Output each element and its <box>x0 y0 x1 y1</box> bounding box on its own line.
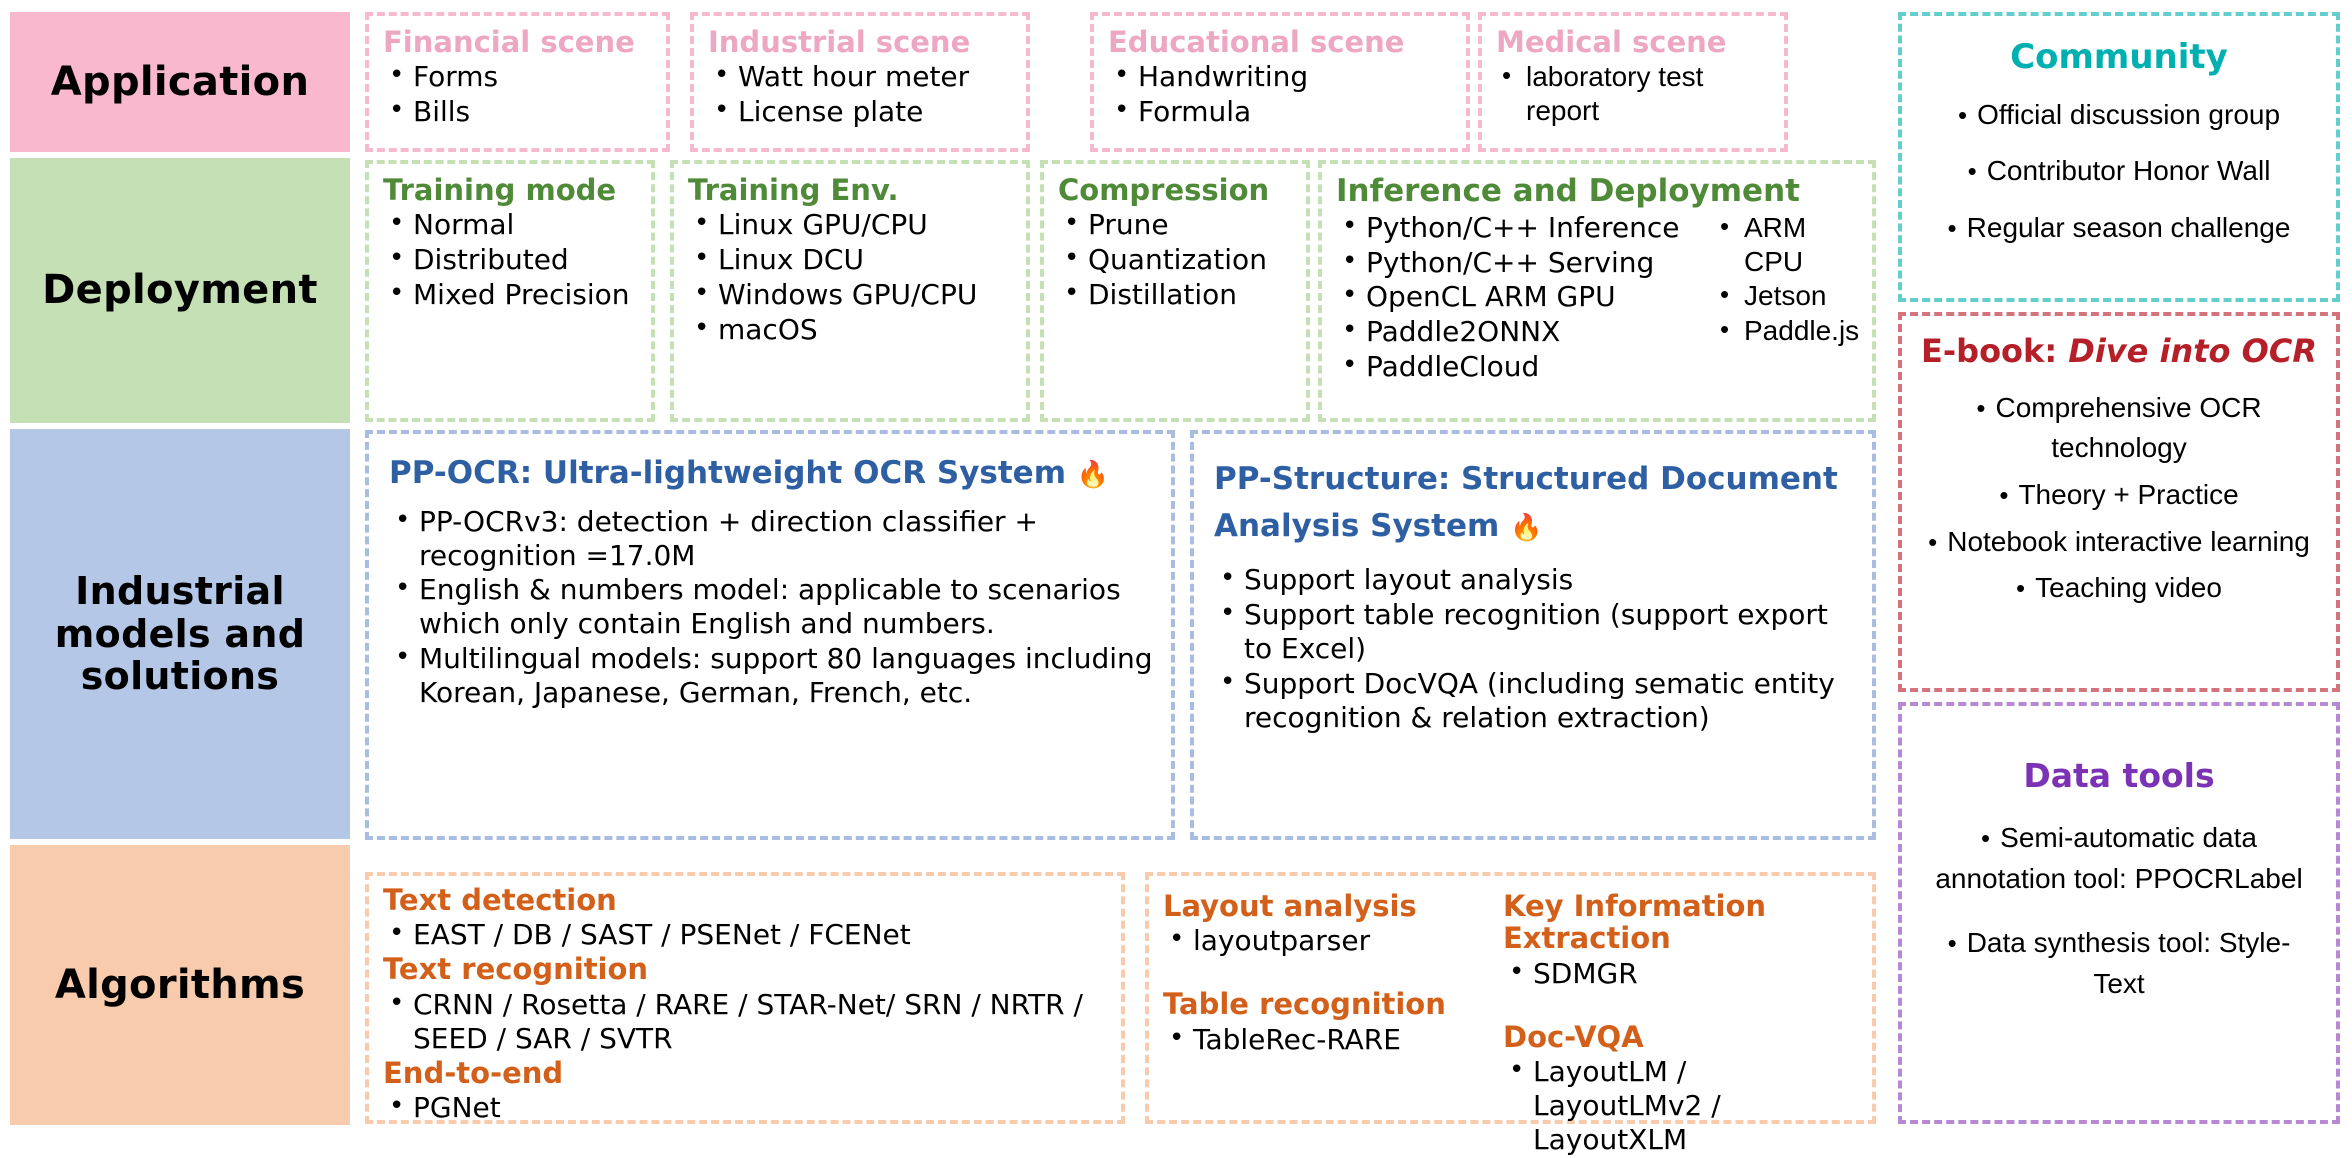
list-item: Support DocVQA (including sematic entity… <box>1214 667 1856 735</box>
list-item: Formula <box>1108 95 1454 129</box>
list-item: LayoutLM / LayoutLMv2 / LayoutXLM <box>1503 1055 1833 1157</box>
card-industrial-scene-list: Watt hour meter License plate <box>708 60 1014 129</box>
group-title-key-information-extraction: Key Information Extraction <box>1503 890 1860 955</box>
list-item: Semi-automatic data annotation tool: PPO… <box>1928 817 2310 900</box>
card-inference-list-left: Python/C++ Inference Python/C++ Serving … <box>1336 211 1696 384</box>
card-inference-and-deployment: Inference and Deployment Python/C++ Infe… <box>1318 160 1876 422</box>
list-item: SDMGR <box>1503 957 1860 991</box>
list-item: Distillation <box>1058 278 1294 312</box>
card-inference-list-right: ARM CPU Jetson Paddle.js <box>1714 211 1860 349</box>
list-item: Python/C++ Serving <box>1336 246 1696 280</box>
inference-columns: Python/C++ Inference Python/C++ Serving … <box>1336 211 1860 385</box>
card-compression-list: Prune Quantization Distillation <box>1058 208 1294 312</box>
card-industrial-scene-title: Industrial scene <box>708 26 1014 58</box>
card-pp-structure: PP-Structure: Structured Document Analys… <box>1190 430 1876 840</box>
card-training-mode-title: Training mode <box>383 174 639 206</box>
list-item: Handwriting <box>1108 60 1454 94</box>
row-label-algorithms-text: Algorithms <box>55 963 305 1008</box>
card-training-env-list: Linux GPU/CPU Linux DCU Windows GPU/CPU … <box>688 208 1014 347</box>
card-ebook-title-prefix: E-book: <box>1921 332 2068 370</box>
list-item: Distributed <box>383 243 639 277</box>
card-medical-scene-title: Medical scene <box>1496 26 1772 58</box>
list-item: Multilingual models: support 80 language… <box>389 642 1153 710</box>
list-item: Linux GPU/CPU <box>688 208 1014 242</box>
card-educational-scene: Educational scene Handwriting Formula <box>1090 12 1470 152</box>
card-pp-ocr-title-text: PP-OCR: Ultra-lightweight OCR System <box>389 455 1066 491</box>
group-title-end-to-end: End-to-end <box>383 1057 1109 1089</box>
card-pp-ocr-list: PP-OCRv3: detection + direction classifi… <box>389 505 1153 710</box>
card-training-env: Training Env. Linux GPU/CPU Linux DCU Wi… <box>670 160 1030 422</box>
list-item: Contributor Honor Wall <box>1918 154 2320 188</box>
fire-icon: 🔥 <box>1510 513 1542 543</box>
list-item: Support table recognition (support expor… <box>1214 598 1856 666</box>
list-item: PP-OCRv3: detection + direction classifi… <box>389 505 1153 573</box>
card-compression: Compression Prune Quantization Distillat… <box>1040 160 1310 422</box>
card-pp-structure-title: PP-Structure: Structured Document Analys… <box>1214 456 1856 549</box>
row-label-industrial-models: Industrial models and solutions <box>10 429 350 839</box>
row-label-application: Application <box>10 12 350 152</box>
card-pp-ocr: PP-OCR: Ultra-lightweight OCR System 🔥 P… <box>365 430 1175 840</box>
row-label-deployment-text: Deployment <box>42 268 318 313</box>
card-community-list: Official discussion group Contributor Ho… <box>1918 98 2320 245</box>
list-item: Data synthesis tool: Style-Text <box>1928 922 2310 1005</box>
list-item: Quantization <box>1058 243 1294 277</box>
list-item: Mixed Precision <box>383 278 639 312</box>
card-financial-scene: Financial scene Forms Bills <box>365 12 670 152</box>
list-item: Paddle.js <box>1714 314 1860 348</box>
list-item: Notebook interactive learning <box>1918 522 2320 563</box>
group-title-text-recognition: Text recognition <box>383 953 1109 985</box>
row-label-application-text: Application <box>51 60 309 105</box>
list-item: Linux DCU <box>688 243 1014 277</box>
list-item: Regular season challenge <box>1918 211 2320 245</box>
card-algorithms-core: Text detection EAST / DB / SAST / PSENet… <box>365 872 1125 1124</box>
card-medical-scene: Medical scene laboratory test report <box>1478 12 1788 152</box>
card-ebook-title-emphasis: Dive into OCR <box>2068 332 2317 370</box>
list-item: Support layout analysis <box>1214 563 1856 597</box>
list-item: PaddleCloud <box>1336 350 1696 384</box>
list-item: Theory + Practice <box>1918 475 2320 516</box>
group-title-doc-vqa: Doc-VQA <box>1503 1021 1860 1053</box>
list-item: Teaching video <box>1918 568 2320 609</box>
list-item: TableRec-RARE <box>1163 1023 1483 1057</box>
list-item: Prune <box>1058 208 1294 242</box>
card-community-title: Community <box>1918 38 2320 76</box>
card-medical-scene-list: laboratory test report <box>1496 60 1772 128</box>
list-item: macOS <box>688 313 1014 347</box>
card-algorithms-document: Layout analysis layoutparser Table recog… <box>1145 872 1876 1124</box>
card-ebook: E-book: Dive into OCR Comprehensive OCR … <box>1898 312 2340 692</box>
list-item: English & numbers model: applicable to s… <box>389 573 1153 641</box>
list-item: CRNN / Rosetta / RARE / STAR-Net/ SRN / … <box>383 988 1109 1056</box>
list-item: Bills <box>383 95 654 129</box>
row-label-industrial-models-text: Industrial models and solutions <box>10 570 350 698</box>
card-compression-title: Compression <box>1058 174 1294 206</box>
card-training-env-title: Training Env. <box>688 174 1014 206</box>
card-data-tools-title: Data tools <box>1928 758 2310 795</box>
list-layout-analysis: layoutparser <box>1163 924 1483 958</box>
list-item: Official discussion group <box>1918 98 2320 132</box>
card-financial-scene-title: Financial scene <box>383 26 654 58</box>
algorithms-document-columns: Layout analysis layoutparser Table recog… <box>1163 890 1860 1158</box>
list-item: License plate <box>708 95 1014 129</box>
card-pp-ocr-title: PP-OCR: Ultra-lightweight OCR System 🔥 <box>389 456 1153 491</box>
list-item: Comprehensive OCR technology <box>1918 388 2320 469</box>
list-item: Windows GPU/CPU <box>688 278 1014 312</box>
card-ebook-title: E-book: Dive into OCR <box>1918 334 2320 370</box>
card-pp-structure-list: Support layout analysis Support table re… <box>1214 563 1856 734</box>
list-key-information-extraction: SDMGR <box>1503 957 1860 991</box>
list-item: Watt hour meter <box>708 60 1014 94</box>
card-industrial-scene: Industrial scene Watt hour meter License… <box>690 12 1030 152</box>
card-training-mode: Training mode Normal Distributed Mixed P… <box>365 160 655 422</box>
list-table-recognition: TableRec-RARE <box>1163 1023 1483 1057</box>
architecture-diagram: Application Deployment Industrial models… <box>0 0 2352 1136</box>
group-title-layout-analysis: Layout analysis <box>1163 890 1483 922</box>
list-doc-vqa: LayoutLM / LayoutLMv2 / LayoutXLM <box>1503 1055 1860 1157</box>
list-item: EAST / DB / SAST / PSENet / FCENet <box>383 918 1109 952</box>
list-item: layoutparser <box>1163 924 1483 958</box>
list-item: Jetson <box>1714 279 1860 313</box>
row-label-algorithms: Algorithms <box>10 845 350 1125</box>
list-item: Python/C++ Inference <box>1336 211 1696 245</box>
card-community: Community Official discussion group Cont… <box>1898 12 2340 302</box>
group-title-text-detection: Text detection <box>383 884 1109 916</box>
row-label-deployment: Deployment <box>10 158 350 423</box>
group-title-table-recognition: Table recognition <box>1163 988 1483 1020</box>
card-educational-scene-title: Educational scene <box>1108 26 1454 58</box>
card-training-mode-list: Normal Distributed Mixed Precision <box>383 208 639 312</box>
list-item: laboratory test report <box>1496 60 1772 128</box>
card-inference-and-deployment-title: Inference and Deployment <box>1336 174 1860 209</box>
card-financial-scene-list: Forms Bills <box>383 60 654 129</box>
card-educational-scene-list: Handwriting Formula <box>1108 60 1454 129</box>
card-ebook-list: Comprehensive OCR technology Theory + Pr… <box>1918 388 2320 609</box>
list-item: PGNet <box>383 1091 1109 1125</box>
list-end-to-end: PGNet <box>383 1091 1109 1125</box>
list-text-detection: EAST / DB / SAST / PSENet / FCENet <box>383 918 1109 952</box>
card-data-tools: Data tools Semi-automatic data annotatio… <box>1898 702 2340 1124</box>
list-item: OpenCL ARM GPU <box>1336 280 1696 314</box>
list-text-recognition: CRNN / Rosetta / RARE / STAR-Net/ SRN / … <box>383 988 1109 1056</box>
list-item: ARM CPU <box>1714 211 1860 279</box>
fire-icon: 🔥 <box>1077 460 1109 490</box>
list-item: Normal <box>383 208 639 242</box>
card-data-tools-list: Semi-automatic data annotation tool: PPO… <box>1928 817 2310 1005</box>
list-item: Paddle2ONNX <box>1336 315 1696 349</box>
list-item: Forms <box>383 60 654 94</box>
